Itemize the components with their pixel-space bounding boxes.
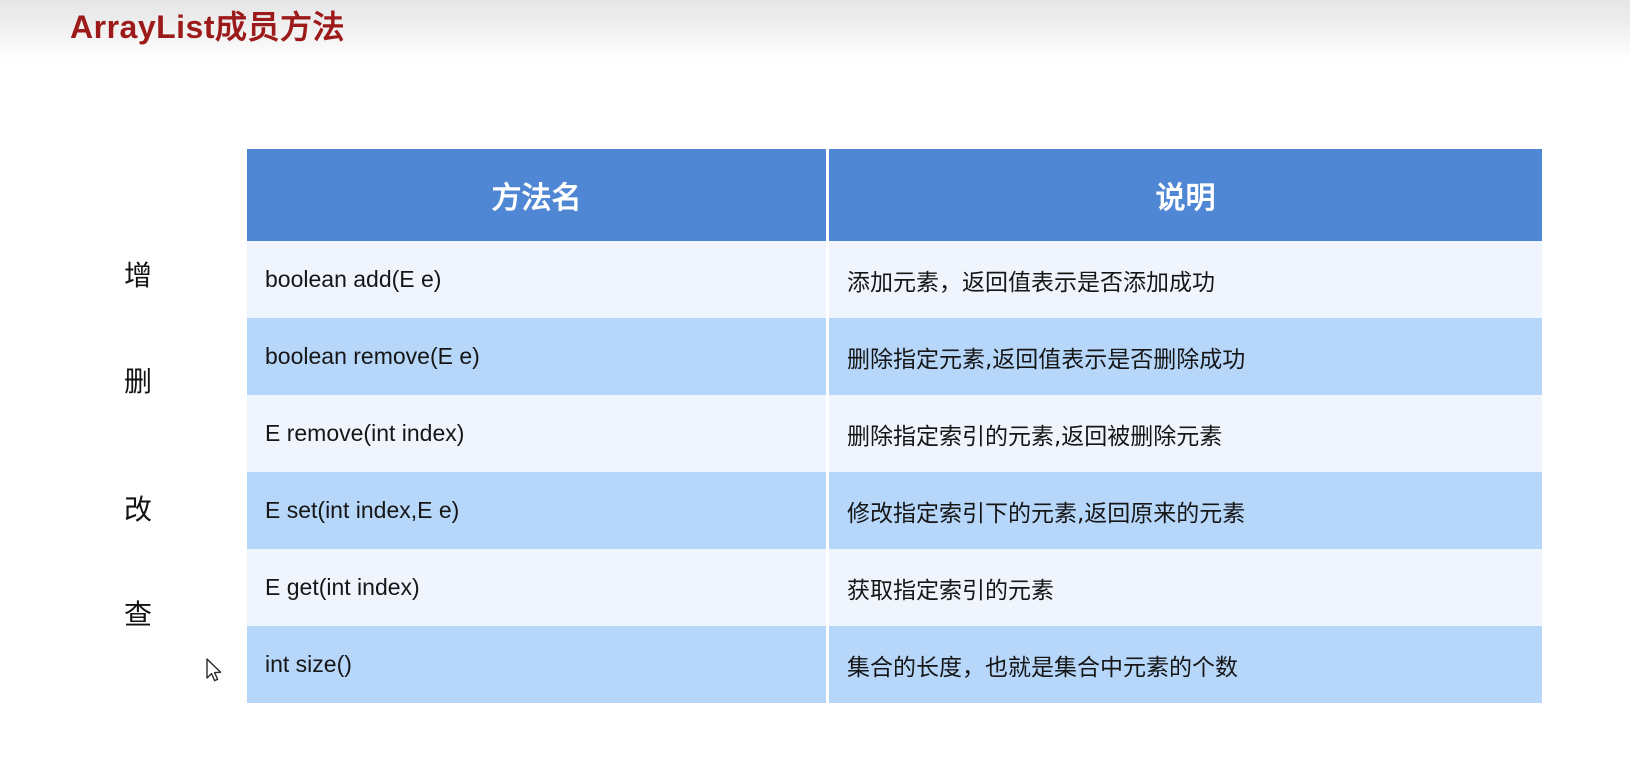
column-header-method: 方法名	[247, 149, 829, 241]
table-row: boolean add(E e) 添加元素，返回值表示是否添加成功	[247, 241, 1542, 318]
cell-method: E set(int index,E e)	[247, 472, 829, 549]
arrow-pointer-icon	[206, 658, 224, 684]
cell-method: boolean add(E e)	[247, 241, 829, 318]
table-header: 方法名 说明	[247, 149, 1542, 241]
cell-description: 修改指定索引下的元素,返回原来的元素	[829, 472, 1542, 549]
cell-method: E remove(int index)	[247, 395, 829, 472]
table-row: E get(int index) 获取指定索引的元素	[247, 549, 1542, 626]
table-row: E remove(int index) 删除指定索引的元素,返回被删除元素	[247, 395, 1542, 472]
table-row: E set(int index,E e) 修改指定索引下的元素,返回原来的元素	[247, 472, 1542, 549]
table-header-row: 方法名 说明	[247, 149, 1542, 241]
table-row: boolean remove(E e) 删除指定元素,返回值表示是否删除成功	[247, 318, 1542, 395]
table-row: int size() 集合的长度，也就是集合中元素的个数	[247, 626, 1542, 703]
page-title: ArrayList成员方法	[70, 4, 345, 50]
arraylist-methods-table: 方法名 说明 boolean add(E e) 添加元素，返回值表示是否添加成功…	[247, 149, 1542, 703]
cell-description: 获取指定索引的元素	[829, 549, 1542, 626]
cell-description: 添加元素，返回值表示是否添加成功	[829, 241, 1542, 318]
cell-description: 删除指定元素,返回值表示是否删除成功	[829, 318, 1542, 395]
cell-method: boolean remove(E e)	[247, 318, 829, 395]
cell-description: 删除指定索引的元素,返回被删除元素	[829, 395, 1542, 472]
column-header-description: 说明	[829, 149, 1542, 241]
category-label-query: 查	[124, 600, 152, 630]
category-label-add: 增	[124, 261, 152, 291]
cell-description: 集合的长度，也就是集合中元素的个数	[829, 626, 1542, 703]
category-label-modify: 改	[124, 495, 152, 525]
cell-method: E get(int index)	[247, 549, 829, 626]
cell-method: int size()	[247, 626, 829, 703]
category-label-delete: 删	[124, 367, 152, 397]
table-body: boolean add(E e) 添加元素，返回值表示是否添加成功 boolea…	[247, 241, 1542, 703]
